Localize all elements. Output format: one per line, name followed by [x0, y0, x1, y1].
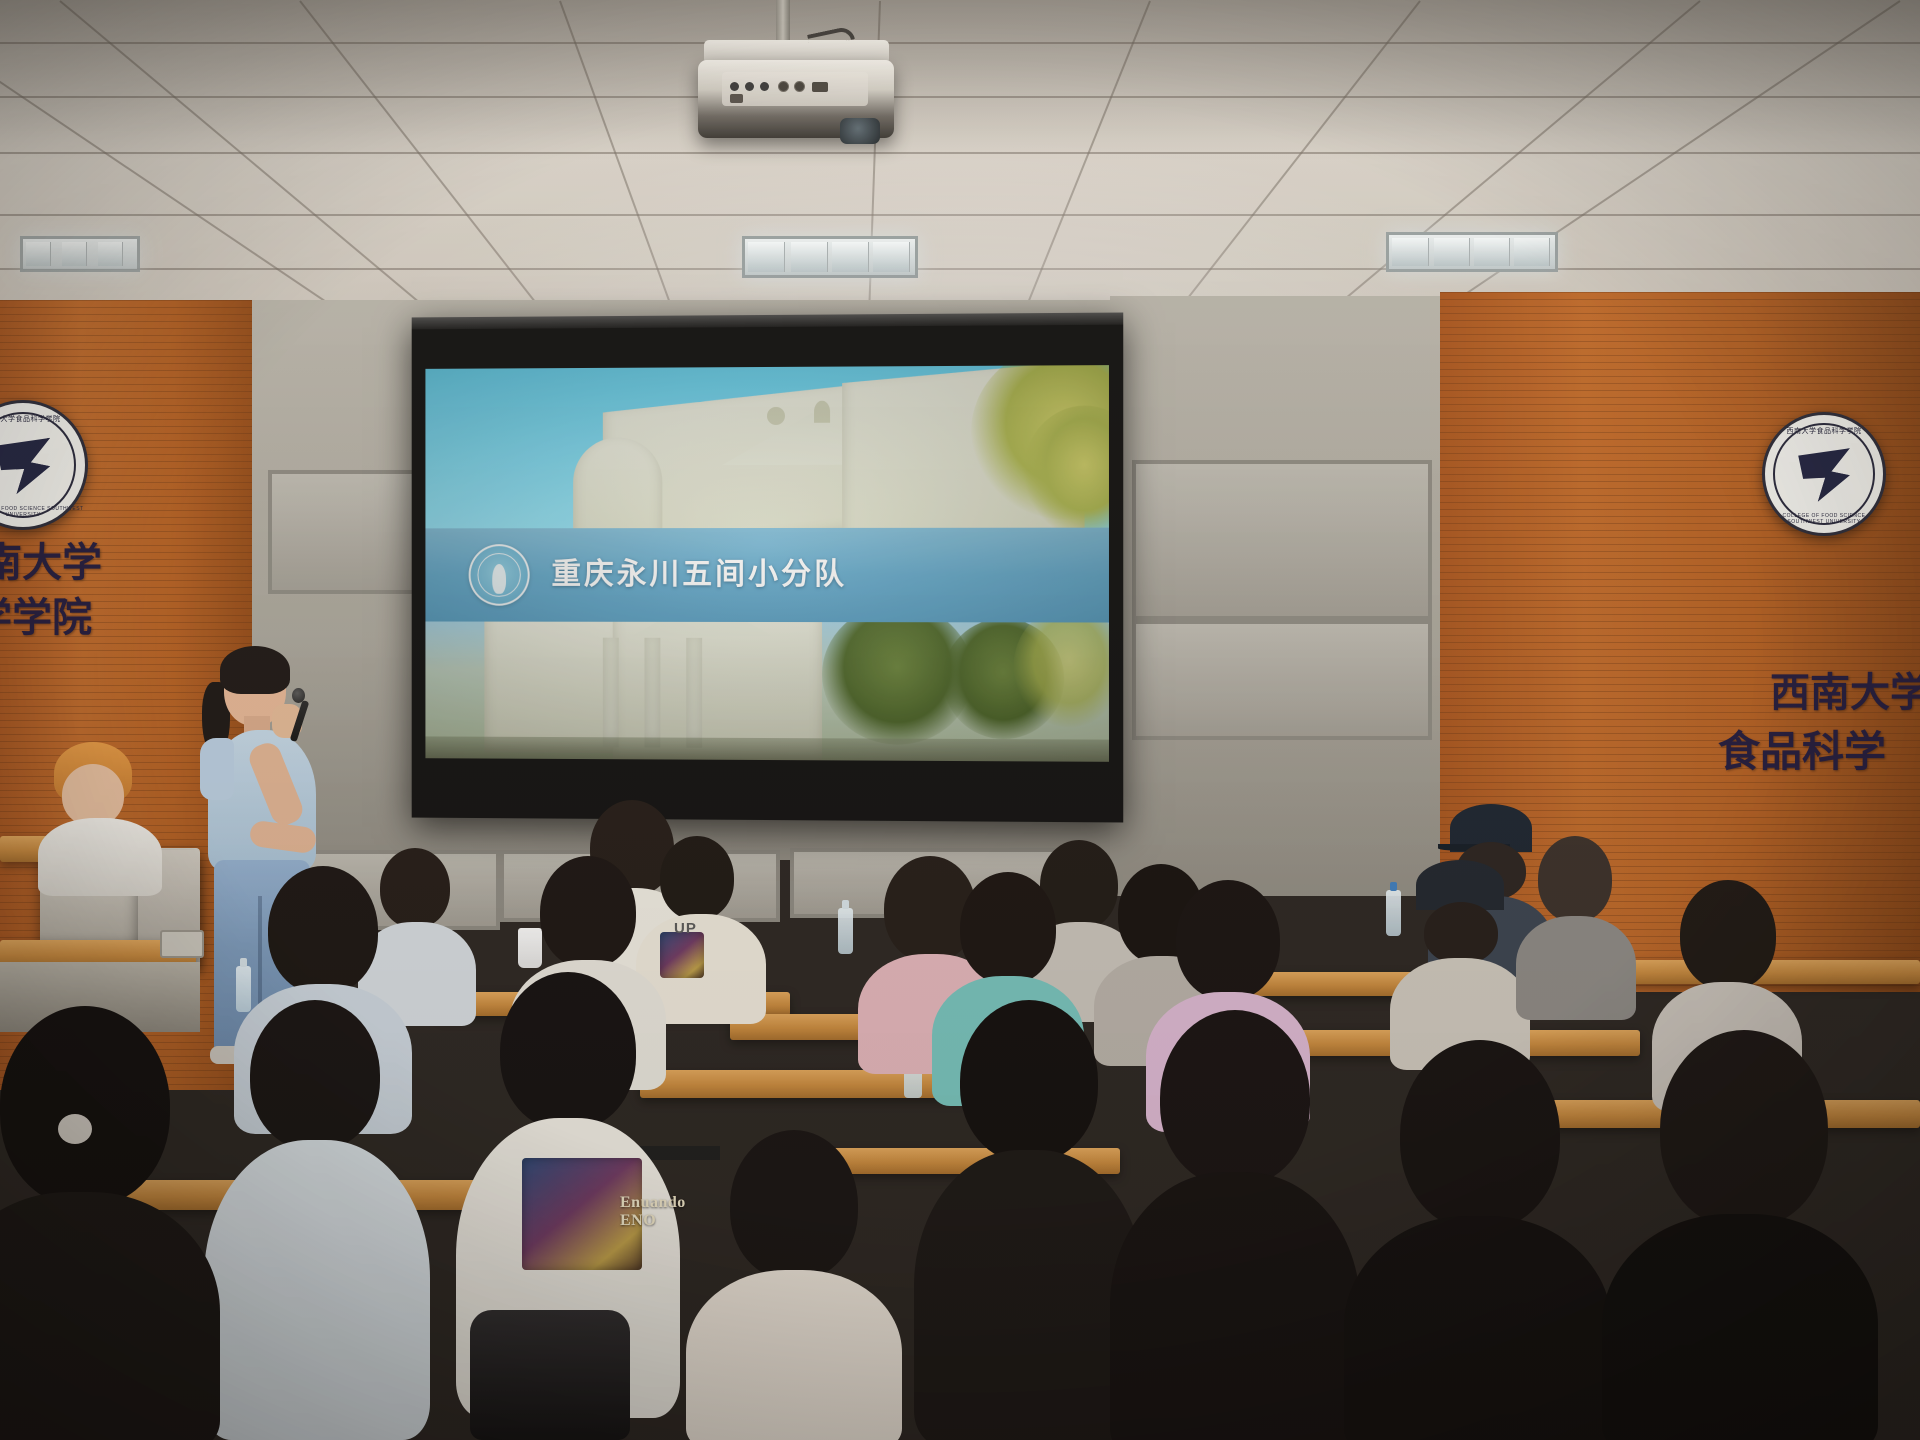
- right-wall-chinese-line-1: 西南大学: [1770, 660, 1920, 718]
- backpack: [470, 1310, 630, 1440]
- whiteboard-panel: [1132, 460, 1432, 620]
- emblem-text-top: 西南大学食品科学学院: [1765, 426, 1883, 436]
- emblem-text-bottom: COLLEGE OF FOOD SCIENCE SOUTHWEST UNIVER…: [0, 506, 85, 518]
- audience-member: [960, 1000, 1098, 1162]
- laptop-operator-student: [44, 742, 164, 882]
- right-wall-chinese-line-2: 食品科学: [1718, 718, 1886, 779]
- audience-member: [268, 866, 378, 994]
- water-bottle[interactable]: [236, 966, 251, 1012]
- slide-photo-top: [425, 365, 1109, 528]
- projection-screen: 重庆永川五间小分队 “三下乡”社会实践活动经验分享: [412, 313, 1124, 823]
- tshirt-top-text: UP: [674, 920, 697, 937]
- presenter-hair: [220, 646, 290, 694]
- slide-university-logo-icon: [469, 544, 530, 606]
- audience-member: [540, 856, 636, 968]
- whiteboard-panel: [1132, 620, 1432, 740]
- hair-tie: [58, 1114, 92, 1144]
- ceiling-projector: [690, 32, 900, 162]
- emblem-text-top: 西南大学食品科学学院: [0, 414, 85, 424]
- slide-title-band: 重庆永川五间小分队: [425, 528, 1109, 623]
- audience-member: [0, 1006, 170, 1206]
- audience-member: [1680, 880, 1776, 990]
- water-bottle[interactable]: [1386, 890, 1401, 936]
- presentation-slide: 重庆永川五间小分队 “三下乡”社会实践活动经验分享: [425, 365, 1109, 762]
- audience-member: [1538, 836, 1612, 922]
- left-wall-chinese-line-1: 南大学: [0, 530, 102, 588]
- whiteboard-panel: [268, 470, 420, 594]
- operator-head: [62, 764, 124, 826]
- audience-member: [1176, 880, 1280, 1000]
- ceiling-light-panel: [1386, 232, 1558, 272]
- audience-member-with-cap: [1450, 804, 1532, 852]
- left-wall-chinese-line-2: 学学院: [0, 585, 92, 643]
- audience-member: Enuando ENO: [500, 972, 636, 1130]
- tshirt-graphic-text: Enuando ENO: [620, 1194, 686, 1230]
- operator-shirt: [38, 818, 162, 896]
- southwest-university-emblem-right: 西南大学食品科学学院 COLLEGE OF FOOD SCIENCE SOUTH…: [1762, 412, 1886, 536]
- water-bottle[interactable]: [838, 908, 853, 954]
- audience-member: UP: [660, 836, 734, 920]
- power-outlet: [160, 930, 204, 958]
- slide-photo-bottom: [425, 622, 1109, 762]
- audience-member: [250, 1000, 380, 1150]
- audience-member: [730, 1130, 858, 1280]
- audience-member-with-cap: [1416, 860, 1504, 910]
- audience-member: [1400, 1040, 1560, 1230]
- slide-title: 重庆永川五间小分队: [551, 560, 847, 590]
- audience-member: [1160, 1010, 1310, 1186]
- lecture-hall-scene: 西南大学食品科学学院 COLLEGE OF FOOD SCIENCE SOUTH…: [0, 0, 1920, 1440]
- audience-member: [1660, 1030, 1828, 1228]
- tshirt-graphic: [660, 932, 704, 978]
- southwest-university-emblem-left: 西南大学食品科学学院 COLLEGE OF FOOD SCIENCE SOUTH…: [0, 400, 88, 530]
- ceiling-light-panel: [742, 236, 918, 278]
- audience-member: [380, 848, 450, 928]
- emblem-text-bottom: COLLEGE OF FOOD SCIENCE SOUTHWEST UNIVER…: [1765, 513, 1883, 525]
- paper-cup[interactable]: [518, 928, 542, 968]
- audience-member: [960, 872, 1056, 984]
- ceiling-light-panel: [20, 236, 140, 272]
